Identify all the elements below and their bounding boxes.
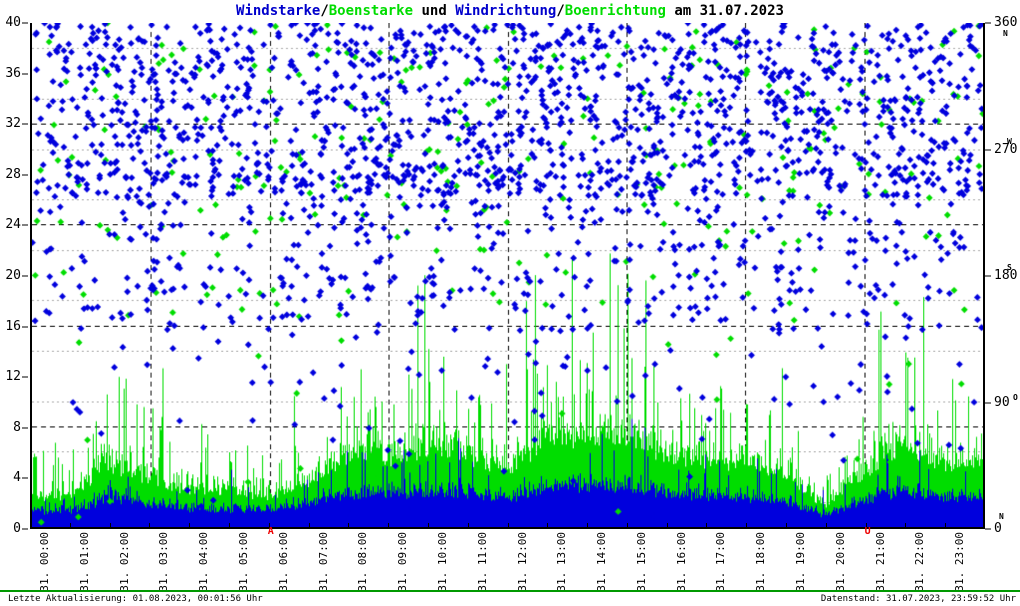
- status-bar: Letzte Aktualisierung: 01.08.2023, 00:01…: [0, 590, 1020, 606]
- x-axis-tickmark: [229, 523, 230, 529]
- x-axis-tickmark: [945, 523, 946, 529]
- x-axis-tickmark: [547, 523, 548, 529]
- x-axis-tick-label: 31. 14:00: [596, 532, 607, 592]
- y-axis-right-tick-360: 360: [994, 18, 1017, 28]
- y-axis-left-tickmark: [22, 529, 28, 530]
- y-axis-right-tickmark: [985, 402, 991, 403]
- y-axis-left-tickmark: [22, 326, 28, 327]
- x-axis-tickmark: [428, 523, 429, 529]
- x-axis-tick-label: 31. 12:00: [517, 532, 528, 592]
- x-axis-tickmark: [309, 523, 310, 529]
- y-axis-left-tickmark: [22, 478, 28, 479]
- x-axis-tick-label: 31. 19:00: [795, 532, 806, 592]
- title-separator-1: /: [320, 3, 328, 19]
- title-wind-direction: Windrichtung: [455, 3, 556, 19]
- x-axis-tick-label: 31. 00:00: [39, 532, 50, 592]
- x-axis-tick-label: 31. 07:00: [318, 532, 329, 592]
- y-axis-left-tickmark: [22, 276, 28, 277]
- x-axis-tickmark: [30, 523, 31, 529]
- wind-chart: Windstarke/Boenstarke und Windrichtung/B…: [0, 0, 1020, 606]
- x-axis-tick-label: 31. 11:00: [477, 532, 488, 592]
- plot-canvas: [32, 23, 983, 527]
- y-axis-right-tick-90: 90: [994, 398, 1010, 408]
- x-axis-tickmark: [110, 523, 111, 529]
- x-axis-tick-label: 31. 15:00: [636, 532, 647, 592]
- title-gust-speed: Boenstarke: [329, 3, 413, 19]
- y-axis-right: 0N90O180S270W360N: [985, 23, 1020, 529]
- y-axis-left-tickmark: [22, 73, 28, 74]
- title-wind-speed: Windstarke: [236, 3, 320, 19]
- x-axis-tickmark: [587, 523, 588, 529]
- y-axis-left: 0481216202428323640: [0, 23, 28, 529]
- y-axis-right-tickmark: [985, 276, 991, 277]
- x-axis-tick-label: 31. 17:00: [715, 532, 726, 592]
- x-axis-tickmark: [388, 523, 389, 529]
- x-axis-tickmark: [189, 523, 190, 529]
- x-axis-tickmark: [149, 523, 150, 529]
- y-axis-left-tickmark: [22, 225, 28, 226]
- x-axis-tick-label: 31. 23:00: [954, 532, 965, 592]
- page-title: Windstarke/Boenstarke und Windrichtung/B…: [0, 3, 1020, 19]
- x-axis-tick-label: 31. 03:00: [158, 532, 169, 592]
- y-axis-left-tickmark: [22, 124, 28, 125]
- y-axis-left-tick-20: 20: [5, 271, 21, 281]
- x-axis-tick-label: 31. 20:00: [835, 532, 846, 592]
- last-update-text: Letzte Aktualisierung: 01.08.2023, 00:01…: [8, 594, 263, 604]
- y-axis-left-tickmark: [22, 23, 28, 24]
- x-axis-tickmark: [905, 523, 906, 529]
- y-axis-left-tick-8: 8: [13, 423, 21, 433]
- x-axis-tickmark: [508, 523, 509, 529]
- sunrise-marker: A: [268, 527, 274, 537]
- x-axis-tick-label: 31. 05:00: [238, 532, 249, 592]
- plot-area: [30, 23, 985, 529]
- x-axis-tick-label: 31. 22:00: [914, 532, 925, 592]
- x-axis: 31. 00:0031. 01:0031. 02:0031. 03:0031. …: [30, 529, 985, 589]
- y-axis-right-tickmark: [985, 23, 991, 24]
- compass-label-S: S: [1007, 264, 1012, 272]
- sunset-marker: U: [865, 527, 871, 537]
- y-axis-right-tick-270: 270: [994, 145, 1017, 155]
- x-axis-tick-label: 31. 04:00: [198, 532, 209, 592]
- x-axis-tick-label: 31. 06:00: [278, 532, 289, 592]
- compass-label-O: O: [1013, 394, 1018, 402]
- compass-label-W: W: [1007, 138, 1012, 146]
- title-date: am 31.07.2023: [666, 3, 784, 19]
- x-axis-tick-label: 31. 09:00: [397, 532, 408, 592]
- compass-label-N: N: [999, 513, 1004, 521]
- y-axis-right-tickmark: [985, 529, 991, 530]
- x-axis-tick-label: 31. 16:00: [676, 532, 687, 592]
- x-axis-tickmark: [826, 523, 827, 529]
- y-axis-left-tick-40: 40: [5, 18, 21, 28]
- y-axis-left-tickmark: [22, 427, 28, 428]
- y-axis-left-tick-12: 12: [5, 372, 21, 382]
- title-separator-2: /: [556, 3, 564, 19]
- x-axis-tick-label: 31. 01:00: [79, 532, 90, 592]
- y-axis-left-tickmark: [22, 174, 28, 175]
- y-axis-right-tick-0: 0: [994, 524, 1002, 534]
- x-axis-tickmark: [468, 523, 469, 529]
- x-axis-tickmark: [627, 523, 628, 529]
- y-axis-left-tick-16: 16: [5, 322, 21, 332]
- x-axis-tickmark: [706, 523, 707, 529]
- y-axis-left-tick-4: 4: [13, 473, 21, 483]
- y-axis-left-tick-28: 28: [5, 170, 21, 180]
- x-axis-tickmark: [786, 523, 787, 529]
- y-axis-right-tick-180: 180: [994, 271, 1017, 281]
- title-gust-direction: Boenrichtung: [565, 3, 666, 19]
- x-axis-tickmark: [667, 523, 668, 529]
- title-conjunction: und: [413, 3, 455, 19]
- y-axis-right-tickmark: [985, 149, 991, 150]
- x-axis-tick-label: 31. 08:00: [357, 532, 368, 592]
- y-axis-left-tick-24: 24: [5, 220, 21, 230]
- x-axis-tick-label: 31. 13:00: [556, 532, 567, 592]
- x-axis-tick-label: 31. 10:00: [437, 532, 448, 592]
- x-axis-tick-label: 31. 02:00: [119, 532, 130, 592]
- y-axis-left-tick-36: 36: [5, 69, 21, 79]
- x-axis-tickmark: [70, 523, 71, 529]
- y-axis-left-tickmark: [22, 377, 28, 378]
- compass-label-N: N: [1003, 30, 1008, 38]
- x-axis-tickmark: [348, 523, 349, 529]
- data-state-text: Datenstand: 31.07.2023, 23:59:52 Uhr: [821, 594, 1016, 604]
- x-axis-tick-label: 31. 21:00: [875, 532, 886, 592]
- x-axis-tick-label: 31. 18:00: [755, 532, 766, 592]
- y-axis-left-tick-32: 32: [5, 119, 21, 129]
- x-axis-tickmark: [746, 523, 747, 529]
- y-axis-left-tick-0: 0: [13, 524, 21, 534]
